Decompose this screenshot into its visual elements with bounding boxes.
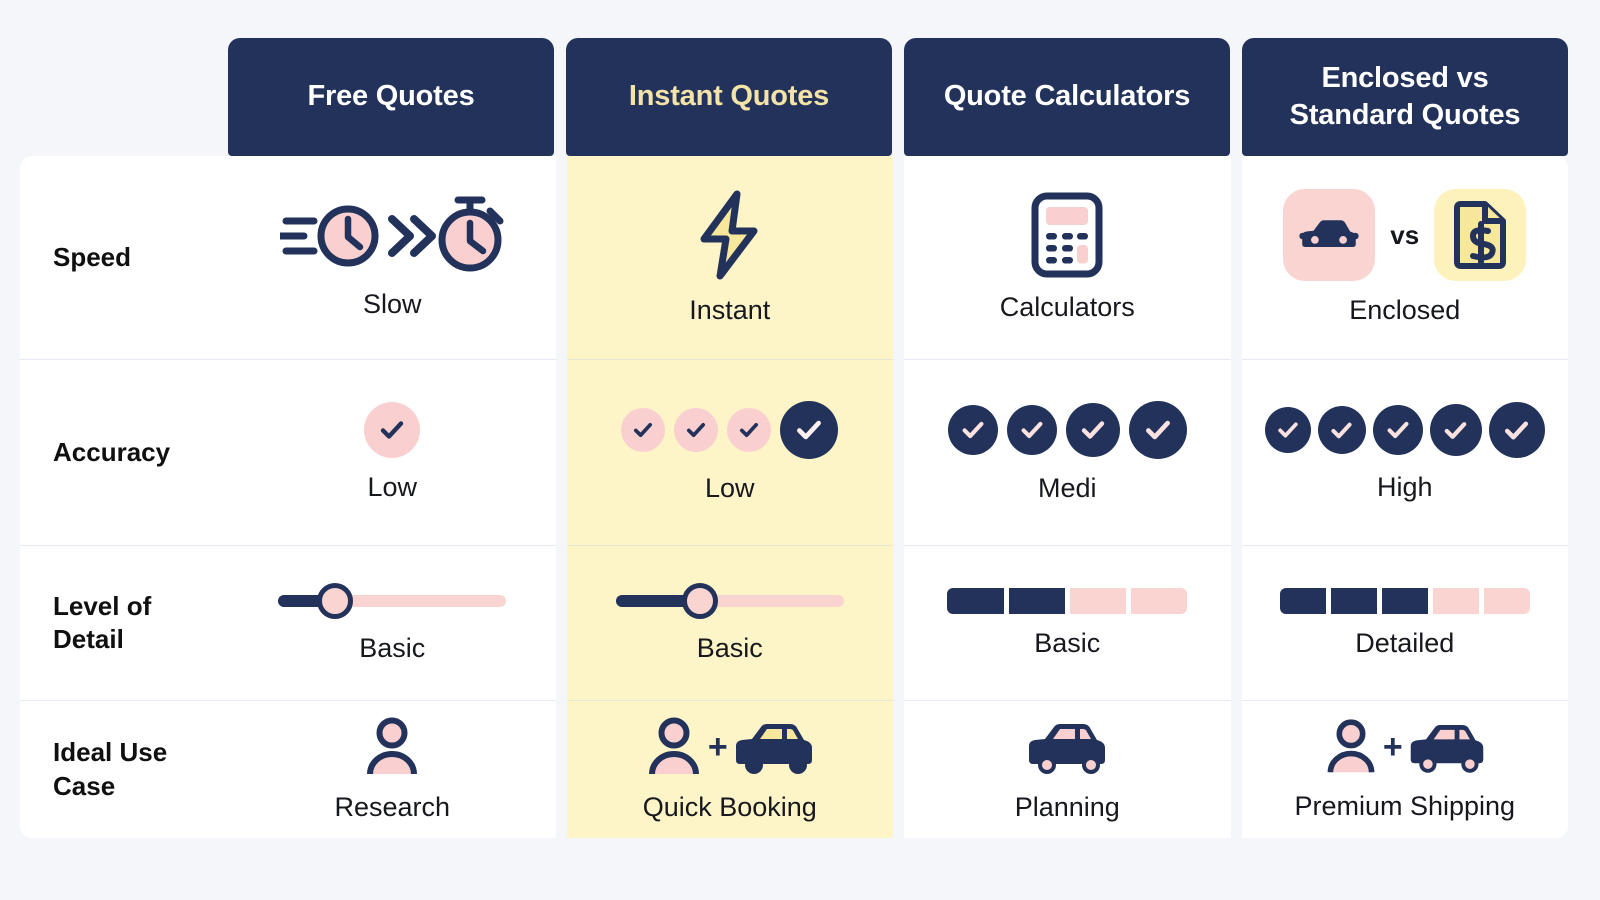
cell-accuracy-quote-calculators: Medi (904, 360, 1231, 546)
check-icon (1373, 405, 1423, 455)
person-plus-car-icon: + (1321, 717, 1489, 777)
row-label-speed: Speed (20, 156, 229, 360)
check-icon (948, 405, 998, 455)
cell-caption: Planning (1015, 792, 1120, 823)
column-header-quote-calculators[interactable]: Quote Calculators (904, 38, 1230, 156)
row-label-text: Speed (53, 241, 131, 274)
row-label-text: Level ofDetail (53, 590, 151, 657)
check-icon (674, 408, 718, 452)
cell-usecase-quote-calculators: Planning (904, 701, 1231, 838)
lightning-bolt-icon (692, 189, 768, 281)
detail-slider[interactable] (616, 583, 844, 619)
comparison-table-page: Free Quotes Instant Quotes Quote Calcula… (0, 0, 1600, 900)
check-icon (1430, 404, 1482, 456)
column-header-instant-quotes[interactable]: Instant Quotes (566, 38, 892, 156)
accuracy-rating (364, 402, 420, 458)
cell-usecase-free-quotes: Research (229, 701, 556, 838)
segment (1070, 588, 1126, 614)
check-icon (727, 408, 771, 452)
column-quote-calculators: Calculators Medi (904, 156, 1231, 838)
car-icon (1298, 213, 1360, 257)
cell-caption: Basic (1034, 628, 1100, 659)
cell-speed-enclosed-vs-standard: vs Enclosed (1242, 156, 1569, 360)
accuracy-rating (1265, 402, 1545, 458)
car-chip (1283, 189, 1375, 281)
column-gap (893, 156, 904, 838)
check-icon (1066, 403, 1120, 457)
cell-caption: Detailed (1355, 628, 1454, 659)
segment (1433, 588, 1479, 614)
slider-thumb[interactable] (682, 583, 718, 619)
row-label-text: Ideal UseCase (53, 736, 167, 803)
column-free-quotes: Slow Low Basic (229, 156, 556, 838)
cell-speed-quote-calculators: Calculators (904, 156, 1231, 360)
document-dollar-icon (1451, 200, 1509, 270)
cell-accuracy-free-quotes: Low (229, 360, 556, 546)
column-gap (1231, 156, 1242, 838)
cell-detail-free-quotes: Basic (229, 546, 556, 701)
car-vs-document-dollar-icon: vs (1283, 189, 1526, 281)
calculator-icon (1031, 192, 1103, 278)
vs-label: vs (1390, 220, 1419, 251)
document-dollar-chip (1434, 189, 1526, 281)
plus-label: + (708, 728, 728, 767)
cell-detail-quote-calculators: Basic (904, 546, 1231, 701)
check-icon (1265, 407, 1311, 453)
plus-label: + (1383, 728, 1403, 767)
detail-segments[interactable] (1280, 588, 1530, 614)
column-header-label: Instant Quotes (629, 78, 829, 115)
cell-caption: High (1377, 472, 1433, 503)
cell-caption: Basic (359, 633, 425, 664)
check-icon (364, 402, 420, 458)
column-header-label: Quote Calculators (944, 78, 1190, 115)
slider-thumb[interactable] (317, 583, 353, 619)
segment (1131, 588, 1187, 614)
comparison-table: Speed Accuracy Level ofDetail Ideal UseC… (20, 156, 1568, 838)
cell-usecase-instant-quotes: + Quick Booking (567, 701, 894, 838)
person-plus-car-icon: + (642, 716, 818, 778)
row-label-column: Speed Accuracy Level ofDetail Ideal UseC… (20, 156, 229, 838)
row-label-accuracy: Accuracy (20, 360, 229, 546)
column-instant-quotes: Instant Low (567, 156, 894, 838)
car-icon (730, 716, 818, 778)
cell-caption: Slow (363, 289, 422, 320)
cell-accuracy-enclosed-vs-standard: High (1242, 360, 1569, 546)
cell-caption: Enclosed (1349, 295, 1460, 326)
column-headers: Free Quotes Instant Quotes Quote Calcula… (228, 38, 1568, 156)
cell-speed-instant-quotes: Instant (567, 156, 894, 360)
detail-slider[interactable] (278, 583, 506, 619)
cell-detail-enclosed-vs-standard: Detailed (1242, 546, 1569, 701)
segment (947, 588, 1003, 614)
accuracy-rating (621, 401, 838, 459)
check-icon (1318, 406, 1366, 454)
cell-caption: Basic (697, 633, 763, 664)
cell-usecase-enclosed-vs-standard: + Premium Shipping (1242, 701, 1569, 838)
car-icon (1023, 716, 1111, 778)
check-icon (1129, 401, 1187, 459)
cell-caption: Quick Booking (643, 792, 817, 823)
cell-accuracy-instant-quotes: Low (567, 360, 894, 546)
row-label-level-of-detail: Level ofDetail (20, 546, 229, 701)
column-header-enclosed-vs-standard[interactable]: Enclosed vsStandard Quotes (1242, 38, 1568, 156)
cell-caption: Instant (689, 295, 770, 326)
column-gap (556, 156, 567, 838)
column-header-label: Free Quotes (307, 78, 474, 115)
cell-caption: Low (705, 473, 755, 504)
cell-caption: Low (367, 472, 417, 503)
clock-speedlines-to-stopwatch-icon (280, 195, 505, 275)
person-icon (360, 716, 424, 778)
accuracy-rating (948, 401, 1187, 459)
row-label-text: Accuracy (53, 436, 170, 469)
check-icon (780, 401, 838, 459)
row-label-ideal-use-case: Ideal UseCase (20, 701, 229, 838)
cell-caption: Medi (1038, 473, 1097, 504)
segment (1484, 588, 1530, 614)
detail-segments[interactable] (947, 588, 1187, 614)
cell-speed-free-quotes: Slow (229, 156, 556, 360)
segment (1331, 588, 1377, 614)
cell-caption: Calculators (1000, 292, 1135, 323)
column-header-free-quotes[interactable]: Free Quotes (228, 38, 554, 156)
segment (1382, 588, 1428, 614)
cell-caption: Research (334, 792, 450, 823)
cell-caption: Premium Shipping (1294, 791, 1515, 822)
column-enclosed-vs-standard: vs Enclosed (1242, 156, 1569, 838)
segment (1009, 588, 1065, 614)
check-icon (621, 408, 665, 452)
car-icon (1405, 717, 1489, 777)
column-header-label: Enclosed vsStandard Quotes (1290, 60, 1521, 134)
check-icon (1489, 402, 1545, 458)
segment (1280, 588, 1326, 614)
check-icon (1007, 405, 1057, 455)
cell-detail-instant-quotes: Basic (567, 546, 894, 701)
